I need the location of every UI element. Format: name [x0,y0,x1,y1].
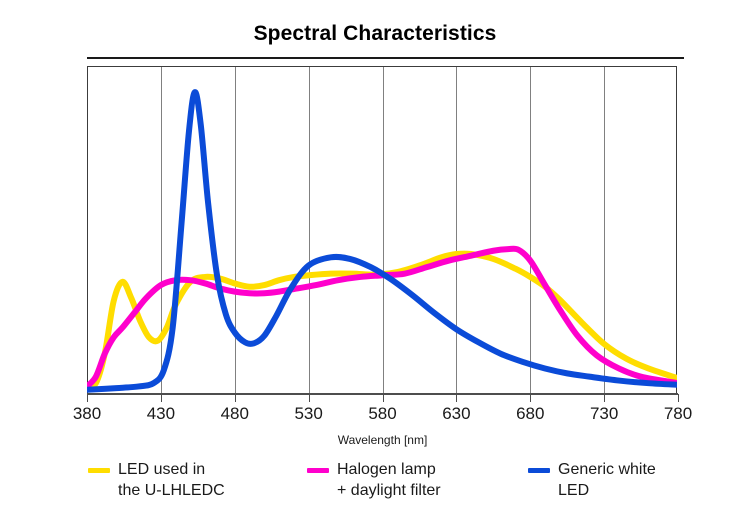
tick-480 [235,394,236,402]
tick-630 [456,394,457,402]
tick-label-630: 630 [442,404,470,424]
series-curves [87,66,677,393]
x-axis-line [87,393,678,395]
tick-label-580: 580 [368,404,396,424]
legend-label: LED used in the U-LHLEDC [118,459,225,501]
tick-730 [604,394,605,402]
tick-780 [678,394,679,402]
tick-label-680: 680 [516,404,544,424]
plot-top-rule [87,57,684,59]
tick-430 [161,394,162,402]
curve-canvas [87,66,677,393]
tick-680 [530,394,531,402]
chart-legend: LED used in the U-LHLEDCHalogen lamp + d… [0,459,750,519]
tick-label-430: 430 [147,404,175,424]
tick-530 [309,394,310,402]
tick-label-730: 730 [590,404,618,424]
tick-label-530: 530 [294,404,322,424]
tick-label-480: 480 [221,404,249,424]
x-axis-title: Wavelength [nm] [87,433,678,447]
legend-item[interactable]: LED used in the U-LHLEDC [88,459,225,501]
tick-label-780: 780 [664,404,692,424]
page-title: Spectral Characteristics [0,22,750,46]
legend-label: Generic white LED [558,459,656,501]
legend-swatch-halogen-daylight [307,468,329,473]
legend-item[interactable]: Generic white LED [528,459,656,501]
legend-label: Halogen lamp + daylight filter [337,459,441,501]
legend-swatch-generic-white-led [528,468,550,473]
legend-item[interactable]: Halogen lamp + daylight filter [307,459,441,501]
tick-380 [87,394,88,402]
spectral-chart: Spectral Characteristics 380430480530580… [0,0,750,530]
tick-label-380: 380 [73,404,101,424]
legend-swatch-led-u-lhledc [88,468,110,473]
tick-580 [383,394,384,402]
